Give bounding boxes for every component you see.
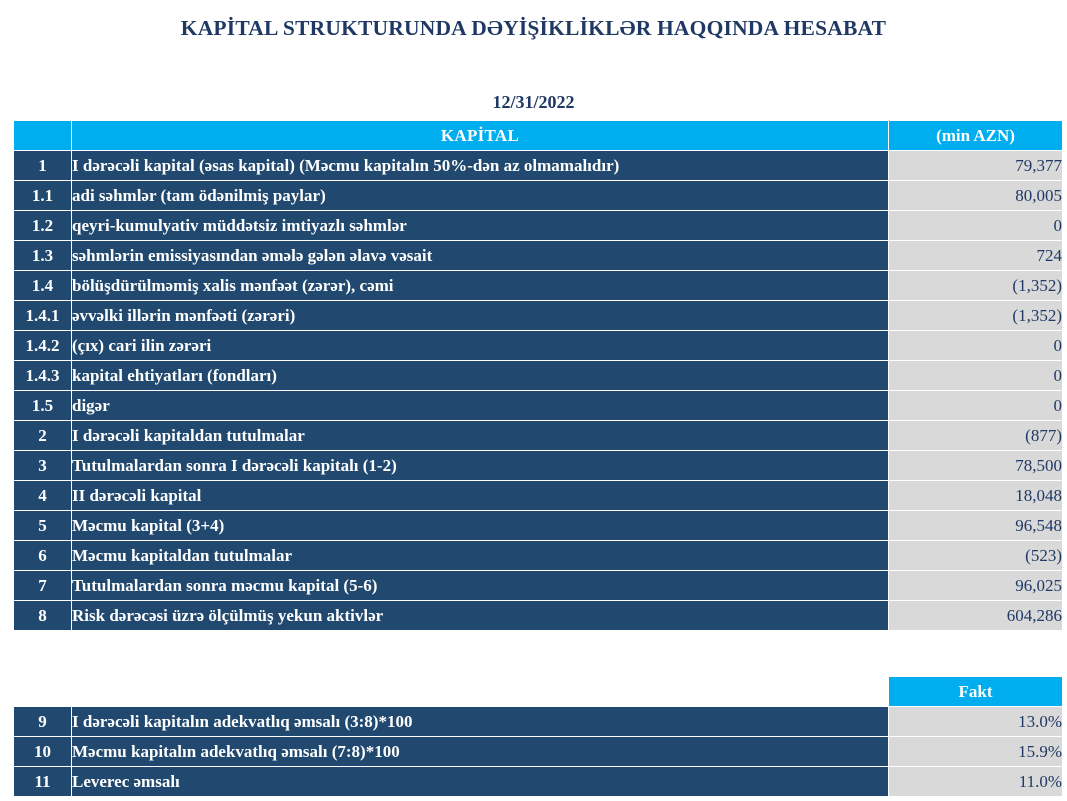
row-label-cell: I dərəcəli kapital (əsas kapital) (Məcmu… [72, 151, 888, 180]
row-label-cell: qeyri-kumulyativ müddətsiz imtiyazlı səh… [72, 211, 888, 240]
row-label-cell: səhmlərin emissiyasından əmələ gələn əla… [72, 241, 888, 270]
row-number-cell: 1.3 [14, 241, 71, 270]
ratio-table-body: 9I dərəcəli kapitalın adekvatlıq əmsalı … [14, 707, 1062, 796]
row-value-cell: 18,048 [889, 481, 1062, 510]
page-title: KAPİTAL STRUKTURUNDA DƏYİŞİKLİKLƏR HAQQI… [0, 16, 1067, 42]
ratio-header-cell-label [72, 677, 888, 706]
row-label-cell: əvvəlki illərin mənfəəti (zərəri) [72, 301, 888, 330]
table-row: 1.4.2(çıx) cari ilin zərəri0 [14, 331, 1062, 360]
row-label-cell: I dərəcəli kapitalın adekvatlıq əmsalı (… [72, 707, 888, 736]
table-header-row: Fakt [14, 677, 1062, 706]
main-table-body: 1I dərəcəli kapital (əsas kapital) (Məcm… [14, 151, 1062, 630]
row-value-cell: 604,286 [889, 601, 1062, 630]
row-label-cell: Risk dərəcəsi üzrə ölçülmüş yekun aktivl… [72, 601, 888, 630]
row-number-cell: 1.5 [14, 391, 71, 420]
row-label-cell: (çıx) cari ilin zərəri [72, 331, 888, 360]
row-label-cell: digər [72, 391, 888, 420]
header-cell-capital: KAPİTAL [72, 121, 888, 150]
row-number-cell: 1.1 [14, 181, 71, 210]
row-value-cell: 0 [889, 361, 1062, 390]
adequacy-ratio-table: Fakt 9I dərəcəli kapitalın adekvatlıq əm… [13, 676, 1063, 797]
row-value-cell: 724 [889, 241, 1062, 270]
row-value-cell: 0 [889, 331, 1062, 360]
row-label-cell: Leverec əmsalı [72, 767, 888, 796]
row-number-cell: 3 [14, 451, 71, 480]
table-row: 1I dərəcəli kapital (əsas kapital) (Məcm… [14, 151, 1062, 180]
row-number-cell: 7 [14, 571, 71, 600]
row-number-cell: 1.4.3 [14, 361, 71, 390]
header-cell-unit: (min AZN) [889, 121, 1062, 150]
row-value-cell: 13.0% [889, 707, 1062, 736]
row-number-cell: 4 [14, 481, 71, 510]
row-label-cell: II dərəcəli kapital [72, 481, 888, 510]
header-cell-number [14, 121, 71, 150]
row-number-cell: 2 [14, 421, 71, 450]
row-number-cell: 1 [14, 151, 71, 180]
ratio-table-header: Fakt [14, 677, 1062, 706]
row-number-cell: 6 [14, 541, 71, 570]
row-value-cell: 0 [889, 391, 1062, 420]
table-row: 5Məcmu kapital (3+4)96,548 [14, 511, 1062, 540]
row-number-cell: 10 [14, 737, 71, 766]
main-table-header: KAPİTAL (min AZN) [14, 121, 1062, 150]
table-row: 10Məcmu kapitalın adekvatlıq əmsalı (7:8… [14, 737, 1062, 766]
row-number-cell: 9 [14, 707, 71, 736]
ratio-header-cell-number [14, 677, 71, 706]
row-value-cell: 96,025 [889, 571, 1062, 600]
row-number-cell: 1.4.2 [14, 331, 71, 360]
row-label-cell: Məcmu kapitaldan tutulmalar [72, 541, 888, 570]
row-value-cell: (523) [889, 541, 1062, 570]
row-number-cell: 1.4.1 [14, 301, 71, 330]
row-value-cell: 78,500 [889, 451, 1062, 480]
row-value-cell: 96,548 [889, 511, 1062, 540]
row-label-cell: Tutulmalardan sonra I dərəcəli kapitalı … [72, 451, 888, 480]
row-label-cell: Məcmu kapitalın adekvatlıq əmsalı (7:8)*… [72, 737, 888, 766]
table-header-row: KAPİTAL (min AZN) [14, 121, 1062, 150]
row-number-cell: 11 [14, 767, 71, 796]
row-value-cell: (1,352) [889, 301, 1062, 330]
table-row: 2I dərəcəli kapitaldan tutulmalar(877) [14, 421, 1062, 450]
row-label-cell: Tutulmalardan sonra məcmu kapital (5-6) [72, 571, 888, 600]
table-row: 6Məcmu kapitaldan tutulmalar(523) [14, 541, 1062, 570]
ratio-header-cell-fakt: Fakt [889, 677, 1062, 706]
report-date: 12/31/2022 [0, 92, 1067, 113]
row-number-cell: 1.4 [14, 271, 71, 300]
row-value-cell: (877) [889, 421, 1062, 450]
row-number-cell: 1.2 [14, 211, 71, 240]
row-number-cell: 5 [14, 511, 71, 540]
table-row: 1.4bölüşdürülməmiş xalis mənfəət (zərər)… [14, 271, 1062, 300]
table-row: 8Risk dərəcəsi üzrə ölçülmüş yekun aktiv… [14, 601, 1062, 630]
table-row: 1.3səhmlərin emissiyasından əmələ gələn … [14, 241, 1062, 270]
row-label-cell: adi səhmlər (tam ödənilmiş paylar) [72, 181, 888, 210]
table-row: 1.2qeyri-kumulyativ müddətsiz imtiyazlı … [14, 211, 1062, 240]
row-number-cell: 8 [14, 601, 71, 630]
row-value-cell: 0 [889, 211, 1062, 240]
row-label-cell: kapital ehtiyatları (fondları) [72, 361, 888, 390]
table-row: 11Leverec əmsalı11.0% [14, 767, 1062, 796]
table-row: 9I dərəcəli kapitalın adekvatlıq əmsalı … [14, 707, 1062, 736]
row-value-cell: 15.9% [889, 737, 1062, 766]
table-row: 4II dərəcəli kapital18,048 [14, 481, 1062, 510]
capital-structure-table: KAPİTAL (min AZN) 1I dərəcəli kapital (ə… [13, 120, 1063, 631]
row-label-cell: bölüşdürülməmiş xalis mənfəət (zərər), c… [72, 271, 888, 300]
row-label-cell: I dərəcəli kapitaldan tutulmalar [72, 421, 888, 450]
table-row: 1.4.3kapital ehtiyatları (fondları)0 [14, 361, 1062, 390]
table-row: 1.4.1əvvəlki illərin mənfəəti (zərəri)(1… [14, 301, 1062, 330]
table-row: 3Tutulmalardan sonra I dərəcəli kapitalı… [14, 451, 1062, 480]
table-row: 7Tutulmalardan sonra məcmu kapital (5-6)… [14, 571, 1062, 600]
table-row: 1.5digər0 [14, 391, 1062, 420]
table-row: 1.1adi səhmlər (tam ödənilmiş paylar)80,… [14, 181, 1062, 210]
row-value-cell: 11.0% [889, 767, 1062, 796]
row-value-cell: 79,377 [889, 151, 1062, 180]
row-value-cell: 80,005 [889, 181, 1062, 210]
row-label-cell: Məcmu kapital (3+4) [72, 511, 888, 540]
row-value-cell: (1,352) [889, 271, 1062, 300]
